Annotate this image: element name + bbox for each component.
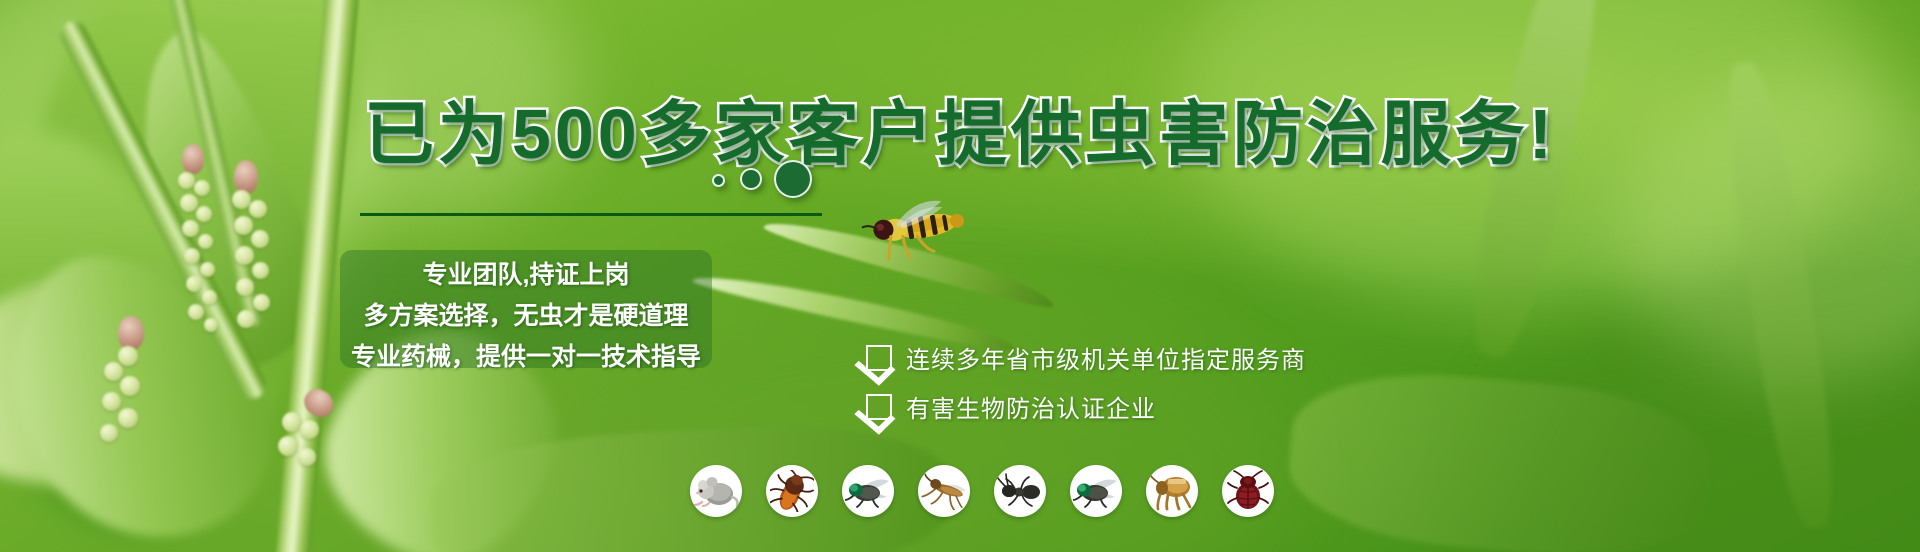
mosquito-icon[interactable]: 蚊子 <box>918 465 970 517</box>
decorative-dot-small <box>712 174 725 187</box>
cockroach-icon[interactable]: 蟑螂 <box>766 465 818 517</box>
pest-type-icon-row: 鼠 蟑螂 <box>690 465 1274 517</box>
claim-line-2: 多方案选择，无虫才是硬道理 <box>340 296 712 337</box>
checklist-item: 有害生物防治认证企业 <box>866 382 1306 431</box>
claim-line-1: 专业团队,持证上岗 <box>340 255 712 296</box>
banner-headline: 已为500多家客户提供虫害防治服务! <box>0 78 1920 179</box>
credential-checklist: 连续多年省市级机关单位指定服务商 有害生物防治认证企业 <box>866 333 1306 431</box>
ant-icon[interactable]: 蚂蚁 <box>994 465 1046 517</box>
divider-rule <box>360 213 822 216</box>
bedbug-icon[interactable]: 臭虫 <box>1222 465 1274 517</box>
claim-line-3: 专业药械，提供一对一技术指导 <box>340 337 712 378</box>
check-box-icon <box>866 394 892 420</box>
housefly-icon[interactable]: 苍蝇 <box>842 465 894 517</box>
checklist-item-label: 有害生物防治认证企业 <box>906 389 1156 424</box>
decorative-dot-large <box>774 160 812 198</box>
check-box-icon <box>866 345 892 371</box>
banner-headline-text: 已为500多家客户提供虫害防治服务! <box>364 95 1556 173</box>
blowfly-icon[interactable]: 绿头蝇 <box>1070 465 1122 517</box>
promotional-banner: 已为500多家客户提供虫害防治服务! 专业团队,持证上岗 多方案选择，无虫才是硬… <box>0 0 1920 552</box>
claims-list: 专业团队,持证上岗 多方案选择，无虫才是硬道理 专业药械，提供一对一技术指导 <box>340 255 712 378</box>
mouse-icon[interactable]: 鼠 <box>690 465 742 517</box>
checklist-item-label: 连续多年省市级机关单位指定服务商 <box>906 340 1306 375</box>
decorative-dot-medium <box>740 168 762 190</box>
flea-icon[interactable]: 跳蚤 <box>1146 465 1198 517</box>
hoverfly-icon <box>840 196 970 266</box>
checklist-item: 连续多年省市级机关单位指定服务商 <box>866 333 1306 382</box>
